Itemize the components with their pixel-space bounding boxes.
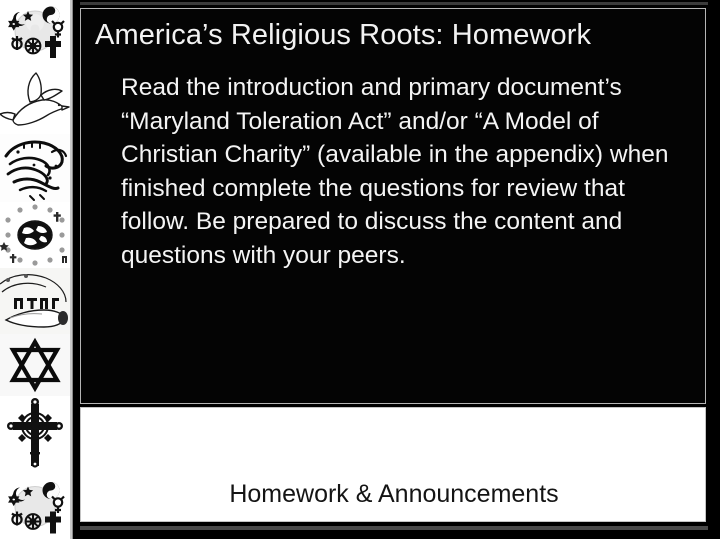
- slide-footer-label: Homework & Announcements: [81, 480, 707, 509]
- star-of-david-icon: [0, 334, 70, 396]
- slide-title: America’s Religious Roots: Homework: [95, 19, 695, 52]
- globe-with-religion-symbols-icon: [0, 202, 70, 268]
- interfaith-symbols-circle-icon: [0, 0, 70, 62]
- shofar-hebrew-icon: [0, 268, 70, 334]
- slide-body-text: Read the introduction and primary docume…: [121, 71, 691, 272]
- slide-body-panel: America’s Religious Roots: Homework Read…: [80, 8, 706, 404]
- interfaith-symbols-circle-icon-2: [0, 474, 70, 539]
- slide-content-frame: America’s Religious Roots: Homework Read…: [80, 2, 708, 536]
- top-rule: [80, 2, 708, 5]
- sidebar-image-strip: [0, 0, 70, 539]
- right-edge-margin: [708, 0, 720, 539]
- peace-dove-icon: [0, 62, 70, 134]
- arabic-calligraphy-icon: [0, 134, 70, 202]
- sidebar-divider: [70, 0, 76, 539]
- slide-footer-panel: Homework & Announcements: [80, 407, 706, 522]
- slide-canvas: America’s Religious Roots: Homework Read…: [0, 0, 720, 539]
- celtic-cross-icon: [0, 396, 70, 474]
- bottom-rule: [80, 526, 708, 530]
